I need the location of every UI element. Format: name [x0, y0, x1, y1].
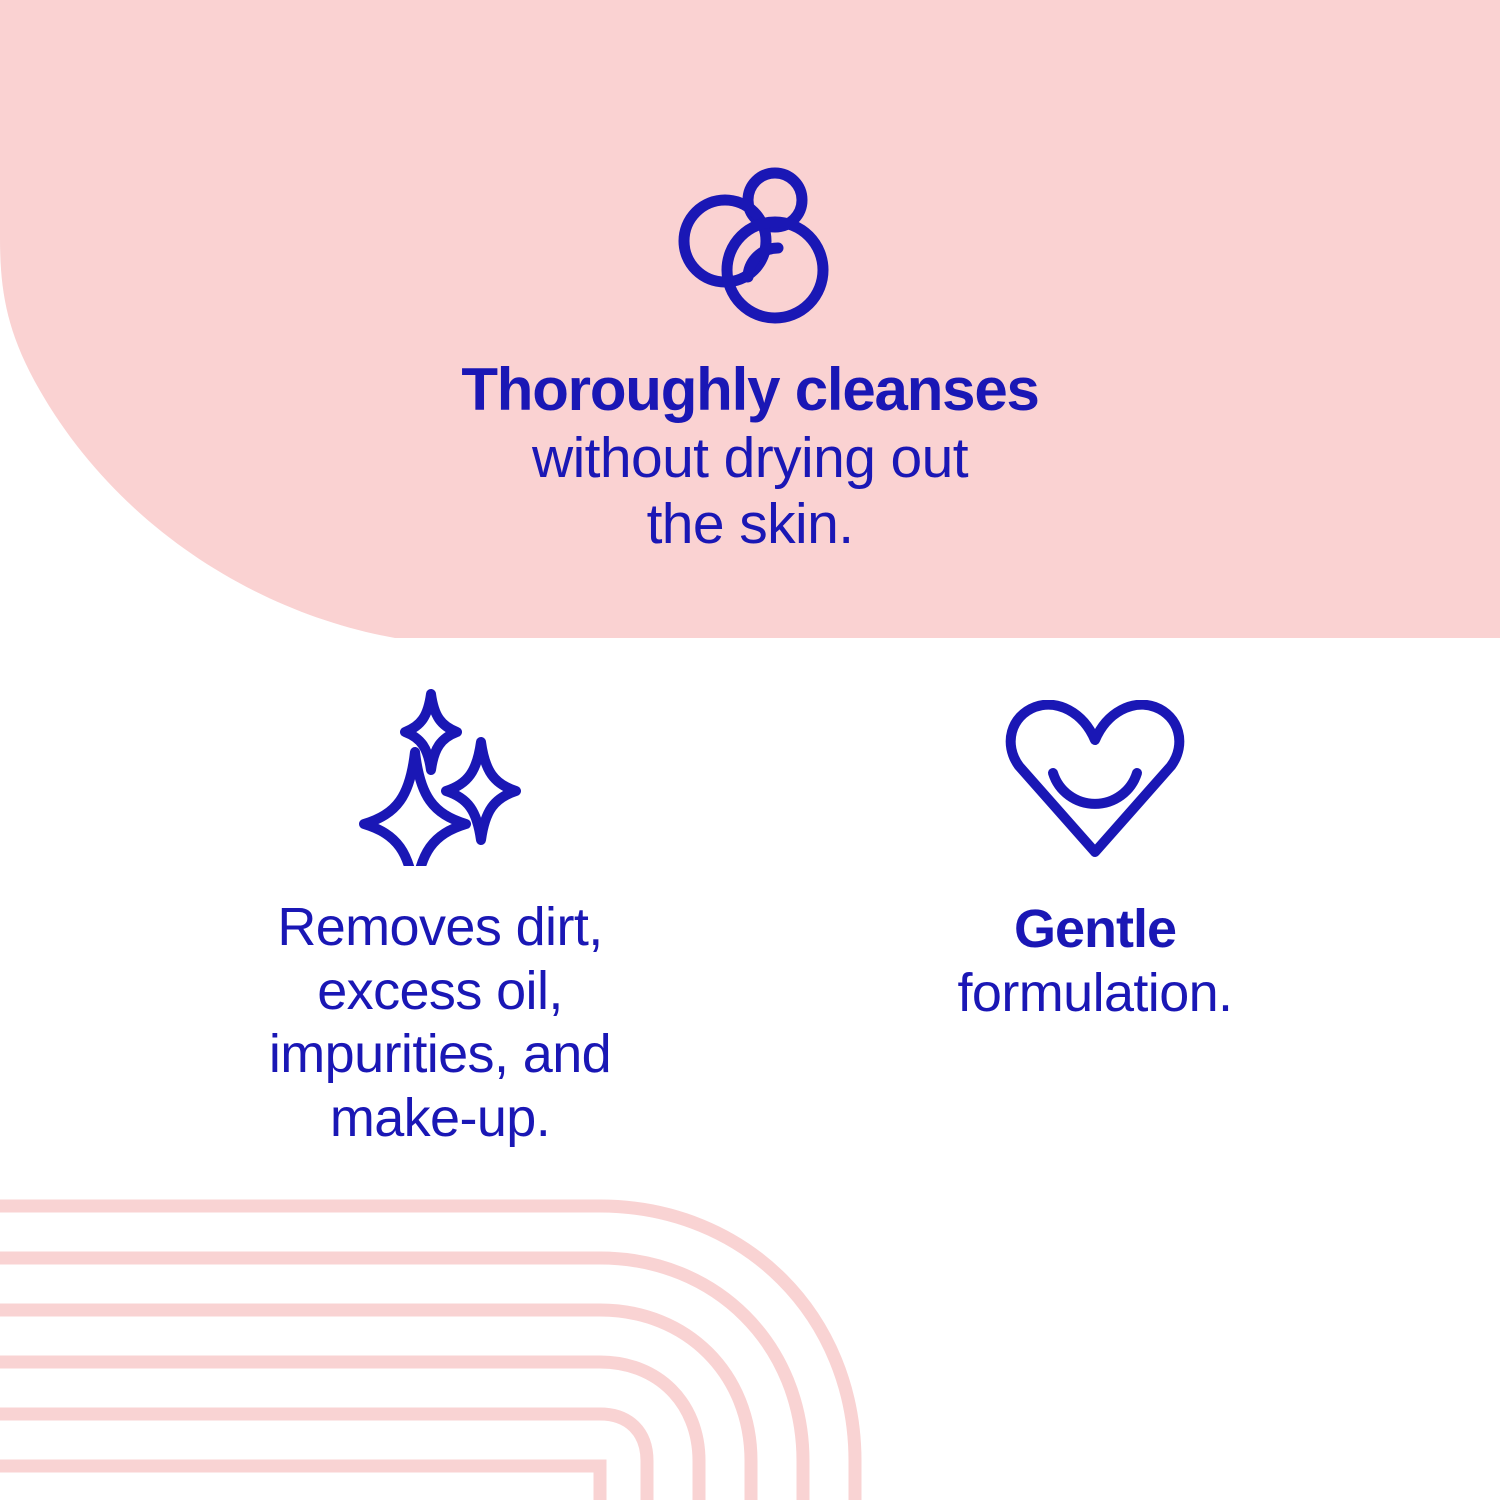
feature-removes-dirt: Removes dirt, excess oil, impurities, an…	[135, 686, 745, 1151]
heart-outline	[1011, 705, 1180, 852]
feature-left-line-4: make-up.	[135, 1087, 745, 1151]
feature-left-caption: Removes dirt, excess oil, impurities, an…	[135, 896, 745, 1151]
heart-smile-curve	[1053, 773, 1137, 804]
hero-headline-line-1: without drying out	[250, 425, 1250, 491]
sparkles-icon	[353, 686, 528, 866]
feature-left-line-1: Removes dirt,	[135, 896, 745, 960]
heart-smile-icon	[1005, 700, 1185, 865]
sparkle-large	[364, 752, 466, 866]
bubbles-icon	[670, 160, 840, 330]
feature-left-line-3: impurities, and	[135, 1023, 745, 1087]
feature-right-bold: Gentle	[790, 898, 1400, 962]
hero-headline-bold: Thoroughly cleanses	[250, 355, 1250, 425]
feature-left-line-2: excess oil,	[135, 960, 745, 1024]
feature-right-line-1: formulation.	[790, 962, 1400, 1026]
feature-gentle-formulation: Gentle formulation.	[790, 700, 1400, 1025]
infographic-canvas: Thoroughly cleanses without drying out t…	[0, 0, 1500, 1500]
feature-right-caption: Gentle formulation.	[790, 898, 1400, 1025]
hero-headline-line-2: the skin.	[250, 491, 1250, 557]
hero-headline: Thoroughly cleanses without drying out t…	[250, 355, 1250, 557]
bubble-large	[727, 222, 823, 318]
